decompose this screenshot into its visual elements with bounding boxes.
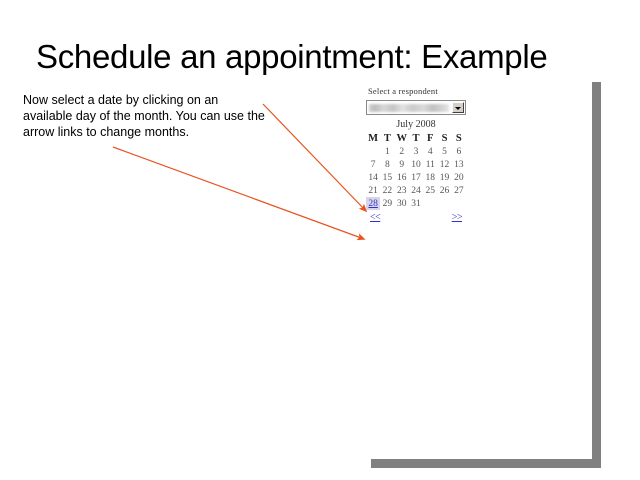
calendar-day-cell: 14 — [366, 171, 380, 184]
arrow-to-available-day — [263, 104, 366, 211]
calendar-widget: Select a respondent July 2008 M T W T F … — [366, 86, 470, 226]
calendar-day-cell: 23 — [395, 184, 409, 197]
arrow-to-month-nav-links — [113, 147, 364, 239]
calendar-day-cell: 6 — [452, 145, 466, 158]
calendar-day-cell: 10 — [409, 158, 423, 171]
calendar-next-month-link[interactable]: >> — [452, 212, 462, 223]
calendar-day-cell: 3 — [409, 145, 423, 158]
calendar-day-cell: 22 — [380, 184, 394, 197]
calendar-week-row: 7 8 9 10 11 12 13 — [366, 158, 466, 171]
slide-frame-shadow-bottom — [371, 459, 601, 468]
calendar-weekday-header-row: M T W T F S S — [366, 132, 466, 145]
calendar-day-cell: 17 — [409, 171, 423, 184]
calendar-day-cell: 27 — [452, 184, 466, 197]
calendar-day-cell: 4 — [423, 145, 437, 158]
calendar-weekday-header: F — [423, 132, 437, 145]
slide-frame-shadow-right — [592, 82, 601, 463]
calendar-day-cell: 21 — [366, 184, 380, 197]
calendar-day-cell: 30 — [395, 197, 409, 210]
page-title: Schedule an appointment: Example — [36, 38, 616, 76]
calendar-day-cell: 2 — [395, 145, 409, 158]
calendar-day-cell: 15 — [380, 171, 394, 184]
calendar-week-row: 28 29 30 31 — [366, 197, 466, 210]
calendar-day-cell — [452, 197, 466, 210]
calendar-weekday-header: W — [395, 132, 409, 145]
calendar-day-cell: 25 — [423, 184, 437, 197]
calendar-weekday-header: S — [437, 132, 451, 145]
calendar-day-cell — [437, 197, 451, 210]
calendar-month-header: July 2008 — [366, 119, 466, 130]
calendar-weekday-header: T — [380, 132, 394, 145]
calendar-day-cell: 31 — [409, 197, 423, 210]
calendar-week-row: 21 22 23 24 25 26 27 — [366, 184, 466, 197]
respondent-select-value — [369, 104, 449, 112]
calendar-day-cell: 11 — [423, 158, 437, 171]
calendar-day-cell: 29 — [380, 197, 394, 210]
calendar-day-cell — [366, 145, 380, 158]
calendar-day-cell: 20 — [452, 171, 466, 184]
respondent-label: Select a respondent — [368, 86, 470, 96]
calendar-day-cell: 12 — [437, 158, 451, 171]
calendar-weekday-header: S — [452, 132, 466, 145]
calendar-weekday-header: M — [366, 132, 380, 145]
calendar-day-cell: 24 — [409, 184, 423, 197]
calendar-week-row: 14 15 16 17 18 19 20 — [366, 171, 466, 184]
calendar-day-cell: 7 — [366, 158, 380, 171]
calendar-navigation: << >> — [366, 212, 466, 226]
instruction-text: Now select a date by clicking on an avai… — [23, 92, 268, 140]
calendar-day-cell: 26 — [437, 184, 451, 197]
calendar-day-cell: 9 — [395, 158, 409, 171]
respondent-select[interactable] — [366, 100, 466, 115]
chevron-down-icon[interactable] — [452, 102, 464, 113]
calendar-day-cell: 5 — [437, 145, 451, 158]
calendar-day-cell: 18 — [423, 171, 437, 184]
calendar-day-cell: 1 — [380, 145, 394, 158]
calendar-day-cell: 8 — [380, 158, 394, 171]
calendar-day-cell — [423, 197, 437, 210]
calendar-week-row: 1 2 3 4 5 6 — [366, 145, 466, 158]
calendar-prev-month-link[interactable]: << — [370, 212, 380, 223]
calendar-table: M T W T F S S 1 2 3 4 5 6 7 8 9 — [366, 132, 466, 210]
calendar-day-cell: 19 — [437, 171, 451, 184]
calendar-day-available[interactable]: 28 — [366, 197, 380, 210]
calendar-day-cell: 16 — [395, 171, 409, 184]
calendar-day-cell: 13 — [452, 158, 466, 171]
calendar-weekday-header: T — [409, 132, 423, 145]
